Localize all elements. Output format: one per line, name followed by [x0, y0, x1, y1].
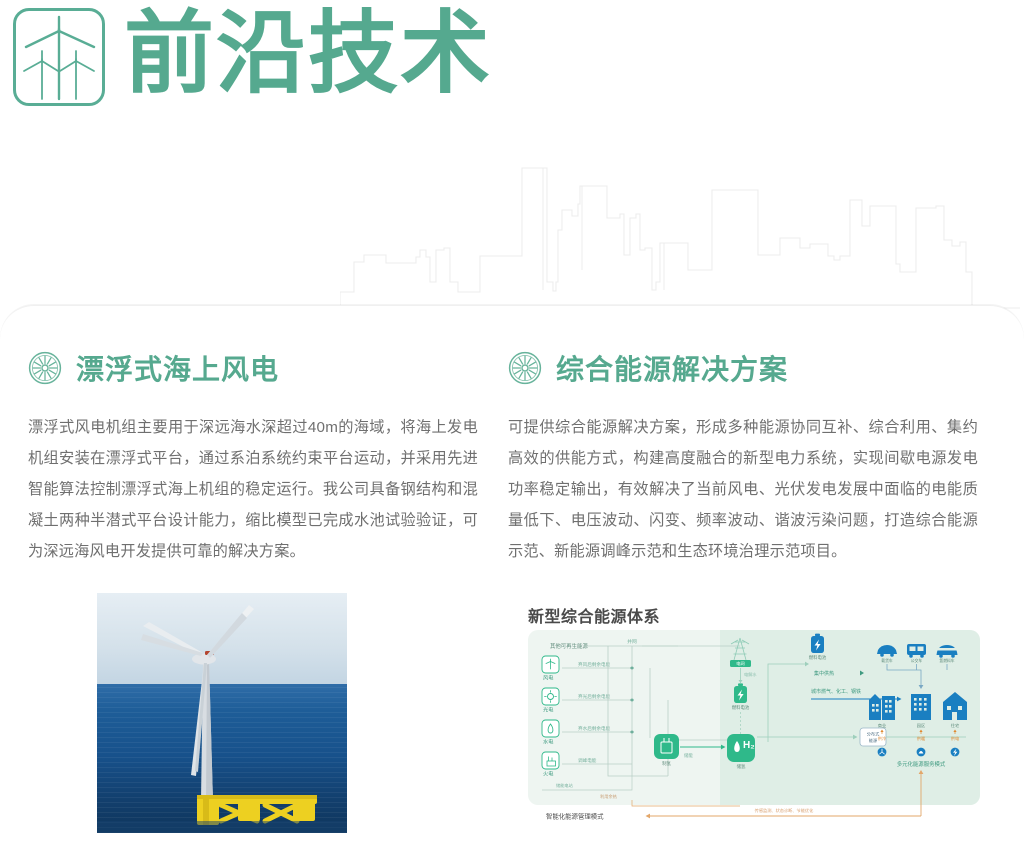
section-integrated-energy-solution: 综合能源解决方案 可提供综合能源解决方案，形成多种能源协同互补、综合利用、集约高… [508, 345, 978, 567]
page-root: 前沿技术 [0, 0, 1024, 859]
diagram-source-label: 水电 [543, 738, 553, 746]
diagram-sources-header: 其他可再生能源 [550, 642, 588, 650]
diagram-fuel-cell-label: 燃料电池 [732, 704, 750, 711]
diagram-heat-label: 集中供热 [814, 670, 834, 677]
page-header: 前沿技术 [0, 0, 1024, 130]
diagram-fuel-cell-label: 燃料电池 [809, 654, 827, 661]
diagram-transport-label: 公交车 [911, 658, 923, 663]
diagram-source-label: 火电 [543, 770, 553, 778]
diagram-consumer-service: 供暖 [917, 735, 926, 742]
diagram-transport-row: 载货车 公交车 氢燃料车 [877, 644, 958, 663]
diagram-source-flow: 调峰电能 [578, 757, 597, 764]
diagram-hydrogen-label: 储氢 [737, 763, 746, 770]
diagram-management-mode-label: 智能化能源管理模式 [546, 812, 604, 821]
diagram-service-mode-label: 多元化能源服务模式 [897, 760, 946, 768]
diagram-grid-node-label: 电网 [736, 660, 744, 667]
radial-sunburst-icon [508, 351, 542, 385]
section-paragraph: 可提供综合能源解决方案，形成多种能源协同互补、综合利用、集约高效的供能方式，构建… [508, 412, 978, 567]
svg-text:储能电站: 储能电站 [556, 782, 573, 789]
diagram-source-label: 风电 [543, 674, 553, 682]
floating-offshore-wind-turbine-photo [97, 593, 347, 833]
section-floating-offshore-wind: 漂浮式海上风电 漂浮式风电机组主要用于深远海水深超过40m的海域，将海上发电机组… [28, 345, 478, 567]
wind-turbine-icon [16, 11, 102, 103]
diagram-consumer-service: 供冷 [878, 735, 886, 742]
integrated-energy-system-diagram: 其他可再生能源 风电 弃风后剩余电能 [528, 630, 980, 830]
section-paragraph: 漂浮式风电机组主要用于深远海水深超过40m的海域，将海上发电机组安装在漂浮式平台… [28, 412, 478, 567]
svg-text:能源: 能源 [869, 737, 878, 744]
diagram-consumer-service: 供电 [951, 735, 960, 742]
diagram-transport-car: 氢燃料车 [937, 645, 958, 663]
diagram-transport-label: 氢燃料车 [939, 658, 954, 663]
diagram-industry-label: 城市燃气、化工、钢铁 [811, 688, 861, 695]
city-skyline-watermark [340, 160, 1020, 310]
diagram-electrolyzer-label: 制氢 [662, 760, 671, 767]
logo-box [13, 8, 105, 106]
diagram-feedback-label: 传感监测、状态诊断、节能优化 [755, 807, 814, 814]
diagram-source-label: 光电 [543, 706, 553, 714]
section-heading-right: 综合能源解决方案 [508, 345, 978, 391]
diagram-source-flow: 弃光后剩余电能 [578, 693, 611, 700]
diagram-source-flow: 弃风后剩余电能 [578, 661, 611, 668]
diagram-transport-label: 载货车 [881, 658, 893, 663]
diagram-consumer-label: 住宅 [951, 722, 959, 728]
diagram-electrolyzer-flow-out: 储能 [684, 752, 693, 759]
content-columns: 漂浮式海上风电 漂浮式风电机组主要用于深远海水深超过40m的海域，将海上发电机组… [0, 305, 1024, 859]
diagram-consumer-label: 商业 [878, 722, 886, 729]
section-heading-left: 漂浮式海上风电 [28, 345, 478, 391]
photo-turbine-overlay [97, 593, 347, 833]
svg-text:利用余热: 利用余热 [600, 793, 618, 800]
diagram-grid-label: 并网 [627, 638, 637, 645]
radial-sunburst-icon [28, 351, 62, 385]
page-title: 前沿技术 [124, 0, 492, 110]
diagram-title: 新型综合能源体系 [528, 603, 660, 627]
diagram-hydrogen-symbol: H₂ [743, 740, 755, 751]
section-title: 综合能源解决方案 [556, 348, 788, 388]
section-title: 漂浮式海上风电 [76, 348, 279, 388]
diagram-source-flow: 弃水后剩余电能 [578, 725, 611, 732]
diagram-electrolyzer-flow-in: 电解水 [744, 671, 757, 678]
content-card: 漂浮式海上风电 漂浮式风电机组主要用于深远海水深超过40m的海域，将海上发电机组… [0, 305, 1024, 859]
